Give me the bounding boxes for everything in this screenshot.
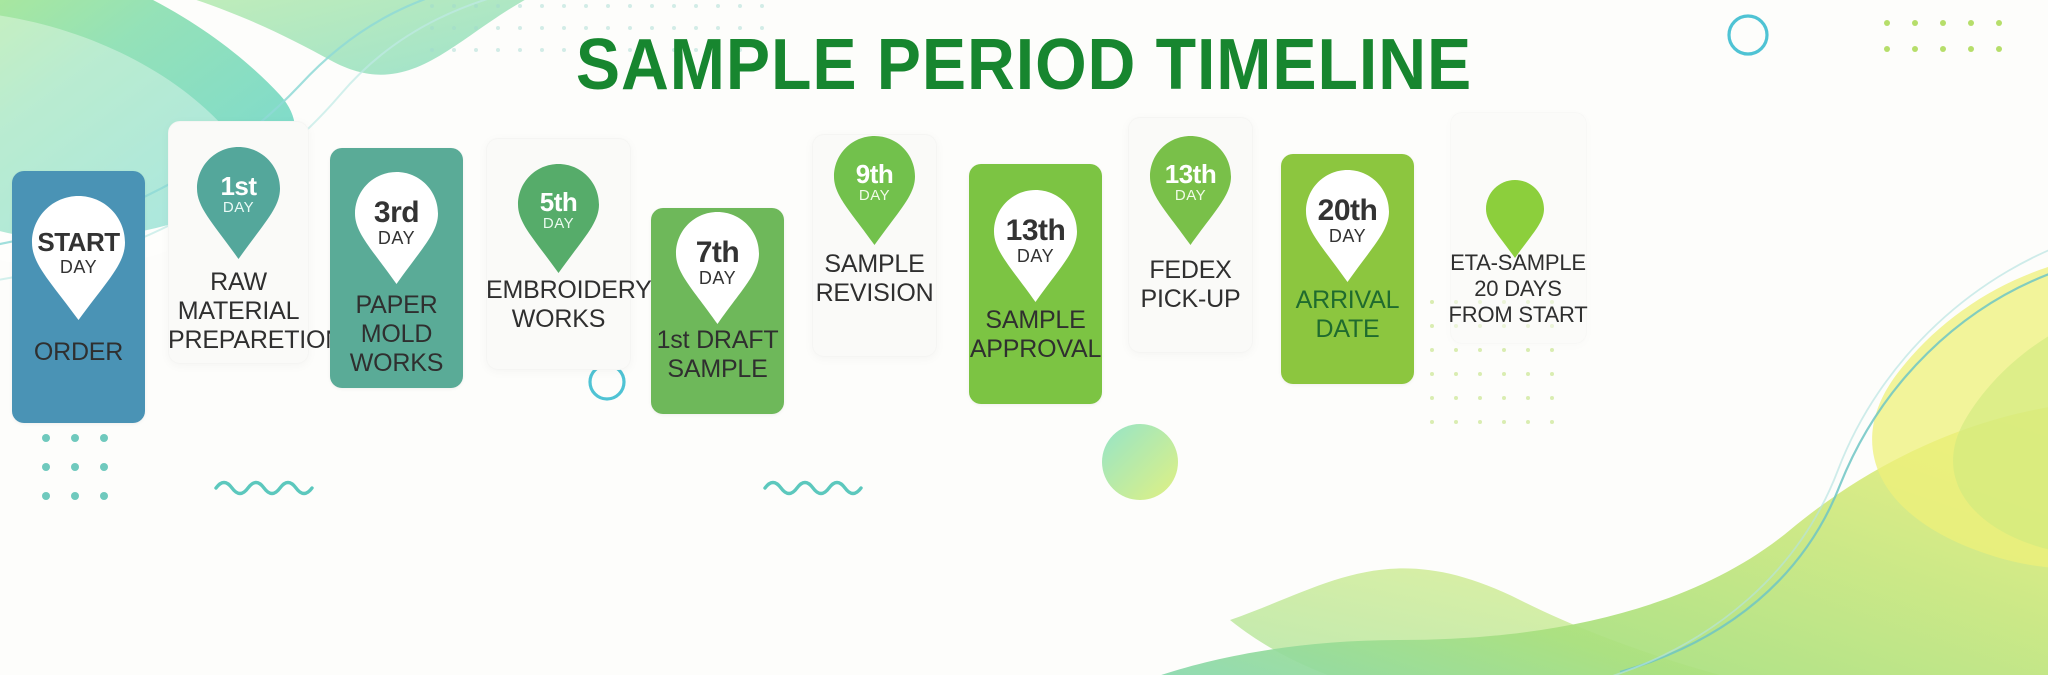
step-label: RAW MATERIAL PREPARETION — [168, 268, 309, 355]
step-label: PAPER MOLD WORKS — [330, 291, 463, 378]
day-pin-marker: 1st DAY — [197, 147, 280, 259]
day-pin-marker: 20th DAY — [1306, 170, 1389, 282]
day-pin-marker: 3rd DAY — [355, 172, 438, 284]
step-label: FEDEX PICK-UP — [1128, 256, 1253, 314]
day-pin-marker — [1486, 180, 1544, 258]
day-pin-marker: 7th DAY — [676, 212, 759, 324]
step-label: ORDER — [12, 338, 145, 367]
zigzag-left — [216, 483, 312, 494]
step-label: ARRIVAL DATE — [1281, 286, 1414, 344]
day-pin-marker: 13th DAY — [1150, 136, 1231, 245]
step-label: EMBROIDERY WORKS — [486, 276, 631, 334]
day-pin-marker: 9th DAY — [834, 136, 915, 245]
day-pin-marker: START DAY — [32, 196, 125, 320]
infographic-canvas: SAMPLE PERIOD TIMELINE START DAY ORDER — [0, 0, 2048, 675]
timeline-track: START DAY ORDER 1st DAY RAW MATERIAL PRE… — [0, 108, 2048, 448]
page-title: SAMPLE PERIOD TIMELINE — [82, 26, 1966, 104]
step-label: SAMPLE APPROVAL — [969, 306, 1102, 364]
day-pin-marker: 13th DAY — [994, 190, 1077, 302]
step-label: ETA-SAMPLE 20 DAYS FROM START — [1424, 250, 1612, 328]
zigzag-center — [765, 483, 861, 494]
step-label: 1st DRAFT SAMPLE — [651, 326, 784, 384]
step-label: SAMPLE REVISION — [812, 250, 937, 308]
day-pin-marker: 5th DAY — [518, 164, 599, 273]
